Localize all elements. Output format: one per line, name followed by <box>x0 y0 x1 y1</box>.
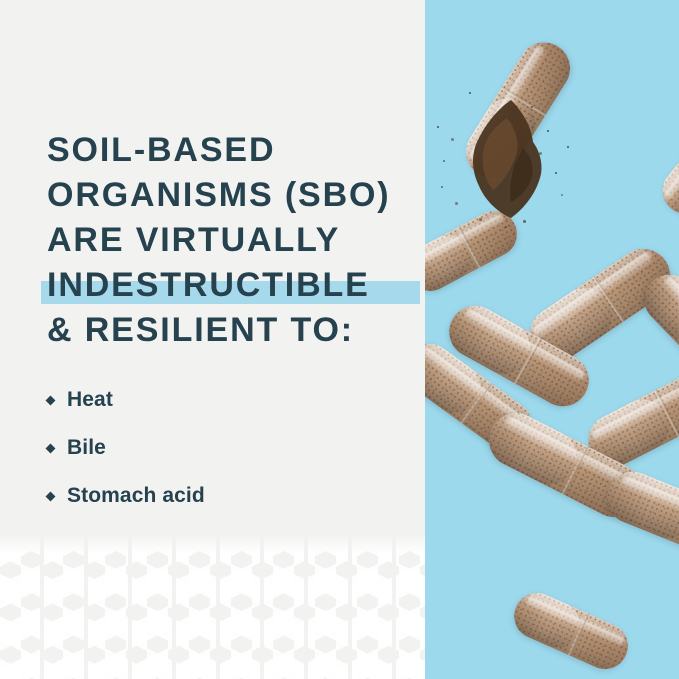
headline-line-5-text: & RESILIENT TO: <box>47 311 354 349</box>
headline-line-2-text: ORGANISMS (SBO) <box>47 176 391 214</box>
capsule-10 <box>507 586 635 677</box>
headline-line-4-highlighted: INDESTRUCTIBLE <box>47 263 412 308</box>
powder-speck <box>455 202 458 205</box>
spilled-powder-pile <box>453 96 573 226</box>
powder-speck <box>505 226 507 228</box>
headline-line-1-text: SOIL-BASED <box>47 131 275 169</box>
powder-speck <box>547 130 549 132</box>
list-item-label: Stomach acid <box>67 484 205 508</box>
headline-line-3: ARE VIRTUALLY <box>47 218 412 263</box>
diamond-bullet-icon <box>46 491 56 501</box>
powder-speck <box>479 218 482 221</box>
powder-speck <box>567 146 569 148</box>
diamond-bullet-icon <box>46 443 56 453</box>
powder-speck <box>539 152 542 155</box>
powder-speck <box>561 194 563 196</box>
headline-line-3-text: ARE VIRTUALLY <box>47 221 340 259</box>
list-item: Stomach acid <box>47 472 387 520</box>
powder-speck <box>555 172 557 174</box>
list-item-label: Bile <box>67 436 106 460</box>
list-item-label: Heat <box>67 388 113 412</box>
powder-speck <box>469 92 471 94</box>
powder-speck <box>441 186 443 188</box>
capsule-cap-rim <box>425 227 479 299</box>
powder-speck <box>523 220 526 223</box>
poster-canvas: SOIL-BASED ORGANISMS (SBO) ARE VIRTUALLY… <box>0 0 679 679</box>
resilience-bullet-list: Heat Bile Stomach acid <box>47 376 387 520</box>
powder-speck <box>437 126 439 128</box>
list-item: Bile <box>47 424 387 472</box>
headline-line-4-text: INDESTRUCTIBLE <box>47 266 370 304</box>
powder-speck <box>531 106 533 108</box>
headline-line-2: ORGANISMS (SBO) <box>47 173 412 218</box>
diamond-bullet-icon <box>46 395 56 405</box>
powder-speck <box>443 160 445 162</box>
left-content-panel: SOIL-BASED ORGANISMS (SBO) ARE VIRTUALLY… <box>0 0 425 679</box>
chevron-pattern-decoration <box>0 533 425 679</box>
headline-block: SOIL-BASED ORGANISMS (SBO) ARE VIRTUALLY… <box>47 128 412 353</box>
headline-line-1: SOIL-BASED <box>47 128 412 173</box>
capsule-photo-panel <box>425 0 679 679</box>
powder-speck <box>451 138 454 141</box>
list-item: Heat <box>47 376 387 424</box>
headline-line-5: & RESILIENT TO: <box>47 308 412 353</box>
capsule-cap-rim <box>653 152 679 223</box>
capsule-11 <box>653 119 679 223</box>
